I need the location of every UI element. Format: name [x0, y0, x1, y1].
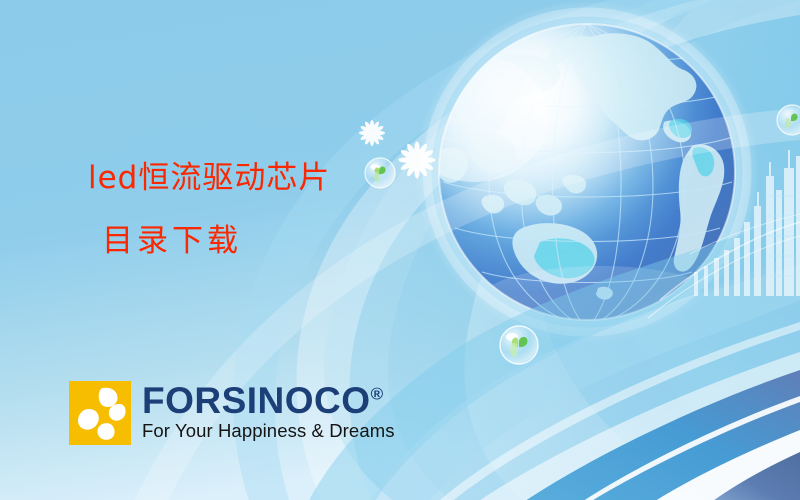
headline-line-2: 目录下载: [102, 225, 518, 258]
shelf-seas: [534, 119, 714, 278]
promo-banner: led恒流驱动芯片 目录下载 FORSINOCO® For Your Happi…: [0, 0, 800, 500]
bubble-sprout-lower: [500, 326, 538, 364]
bottom-bands: [418, 322, 800, 500]
brand-tagline: For Your Happiness & Dreams: [142, 420, 395, 442]
longitude-lines: [489, 24, 685, 320]
brand-name: FORSINOCO®: [142, 383, 395, 419]
bubble-sprout-edge: [777, 105, 800, 135]
city-skyline: [694, 150, 800, 296]
pinwheel-flower-icon: [69, 381, 131, 445]
light-trails: [648, 214, 800, 318]
daisy-flower-small: [359, 120, 385, 146]
brand-name-text: FORSINOCO: [142, 380, 371, 421]
headline-line-1: led恒流驱动芯片: [88, 162, 518, 195]
headline-block: led恒流驱动芯片 目录下载: [88, 162, 518, 257]
brand-logo-lockup: FORSINOCO® For Your Happiness & Dreams: [69, 381, 395, 445]
brand-wordmark: FORSINOCO® For Your Happiness & Dreams: [142, 383, 395, 442]
registered-mark: ®: [371, 385, 384, 404]
